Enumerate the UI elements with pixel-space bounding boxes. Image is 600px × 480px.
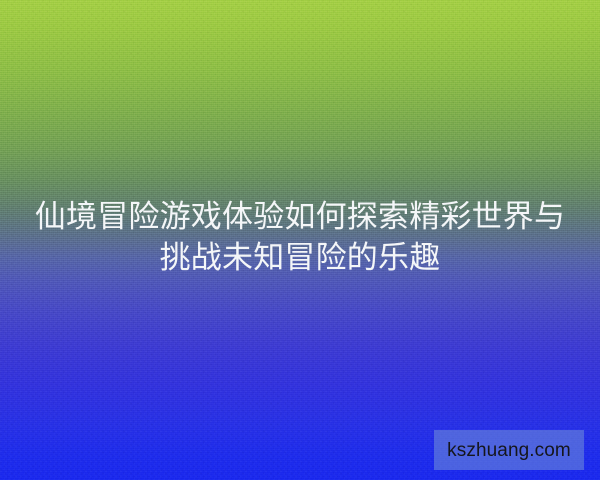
watermark-badge: kszhuang.com — [434, 430, 584, 470]
page-title: 仙境冒险游戏体验如何探索精彩世界与挑战未知冒险的乐趣 — [0, 196, 600, 278]
cover-image: 仙境冒险游戏体验如何探索精彩世界与挑战未知冒险的乐趣 kszhuang.com — [0, 0, 600, 480]
watermark-text: kszhuang.com — [447, 441, 571, 460]
